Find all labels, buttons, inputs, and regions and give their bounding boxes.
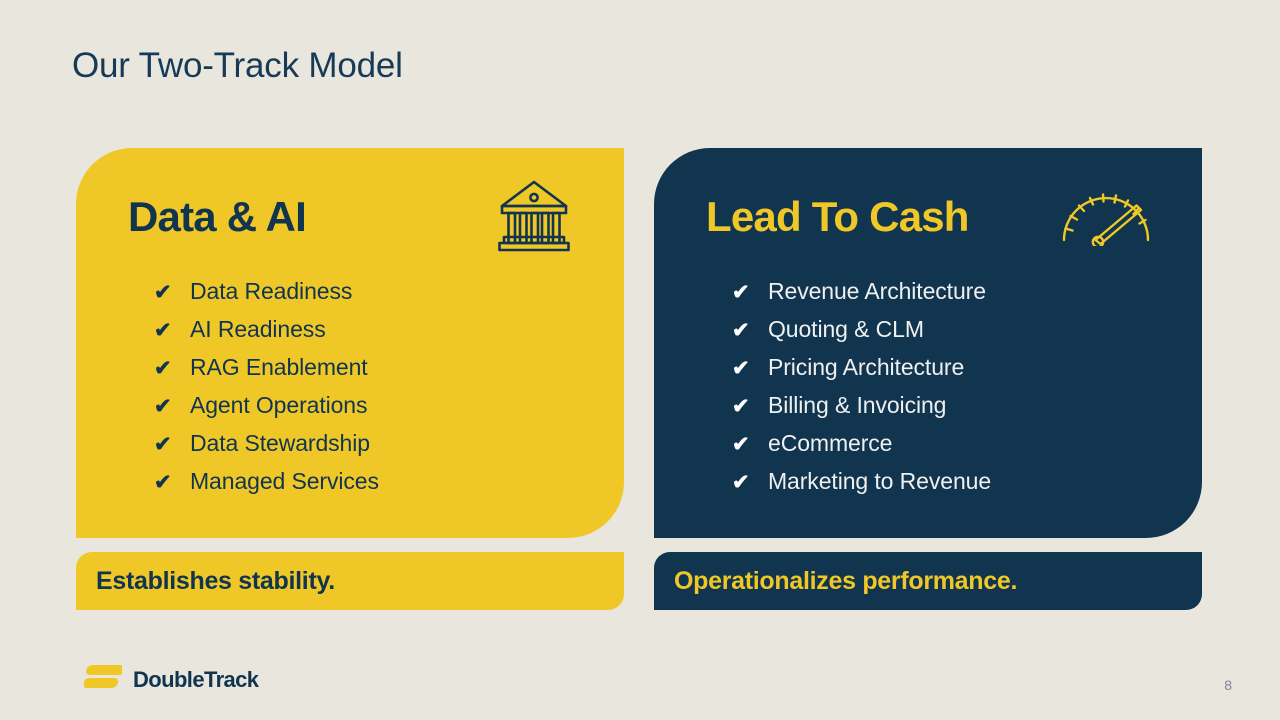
feature-label: RAG Enablement <box>190 354 368 381</box>
list-item: ✔ Pricing Architecture <box>732 354 1168 381</box>
page-number: 8 <box>1224 677 1232 693</box>
card-header-data-and-ai: Data & AI <box>110 174 590 260</box>
feature-label: Billing & Invoicing <box>768 392 946 419</box>
list-item: ✔ Agent Operations <box>154 392 590 419</box>
page-title: Our Two-Track Model <box>72 46 403 86</box>
card-title-lead-to-cash: Lead To Cash <box>706 193 969 241</box>
feature-label: Revenue Architecture <box>768 278 986 305</box>
check-icon: ✔ <box>732 358 768 379</box>
feature-label: Pricing Architecture <box>768 354 964 381</box>
card-title-data-and-ai: Data & AI <box>128 193 306 241</box>
check-icon: ✔ <box>154 396 190 417</box>
doubletrack-logo-mark-icon <box>84 663 122 696</box>
card-lead-to-cash: Lead To Cash <box>654 148 1202 538</box>
track-column-lead-to-cash: Lead To Cash <box>654 148 1202 610</box>
feature-label: Marketing to Revenue <box>768 468 991 495</box>
feature-label: Data Readiness <box>190 278 352 305</box>
card-header-lead-to-cash: Lead To Cash <box>688 174 1168 260</box>
check-icon: ✔ <box>732 396 768 417</box>
feature-label: Agent Operations <box>190 392 367 419</box>
check-icon: ✔ <box>154 434 190 455</box>
feature-list-lead-to-cash: ✔ Revenue Architecture ✔ Quoting & CLM ✔… <box>688 278 1168 495</box>
check-icon: ✔ <box>154 358 190 379</box>
check-icon: ✔ <box>154 320 190 341</box>
logo-text: DoubleTrack <box>133 667 258 693</box>
list-item: ✔ Data Readiness <box>154 278 590 305</box>
check-icon: ✔ <box>732 282 768 303</box>
feature-label: AI Readiness <box>190 316 326 343</box>
feature-label: Data Stewardship <box>190 430 370 457</box>
check-icon: ✔ <box>154 282 190 303</box>
list-item: ✔ Managed Services <box>154 468 590 495</box>
bank-icon <box>496 178 572 257</box>
footer-logo: DoubleTrack <box>84 663 258 696</box>
banner-text: Operationalizes performance. <box>674 567 1017 596</box>
list-item: ✔ eCommerce <box>732 430 1168 457</box>
feature-label: Quoting & CLM <box>768 316 924 343</box>
card-data-and-ai: Data & AI ✔ Data Readin <box>76 148 624 538</box>
speedometer-icon <box>1058 184 1154 251</box>
feature-label: eCommerce <box>768 430 892 457</box>
check-icon: ✔ <box>732 472 768 493</box>
list-item: ✔ Revenue Architecture <box>732 278 1168 305</box>
banner-lead-to-cash: Operationalizes performance. <box>654 552 1202 610</box>
track-column-data-and-ai: Data & AI ✔ Data Readin <box>76 148 624 610</box>
list-item: ✔ Marketing to Revenue <box>732 468 1168 495</box>
list-item: ✔ Data Stewardship <box>154 430 590 457</box>
feature-list-data-and-ai: ✔ Data Readiness ✔ AI Readiness ✔ RAG En… <box>110 278 590 495</box>
banner-data-and-ai: Establishes stability. <box>76 552 624 610</box>
check-icon: ✔ <box>732 320 768 341</box>
check-icon: ✔ <box>732 434 768 455</box>
list-item: ✔ AI Readiness <box>154 316 590 343</box>
list-item: ✔ Quoting & CLM <box>732 316 1168 343</box>
check-icon: ✔ <box>154 472 190 493</box>
list-item: ✔ Billing & Invoicing <box>732 392 1168 419</box>
list-item: ✔ RAG Enablement <box>154 354 590 381</box>
banner-text: Establishes stability. <box>96 567 335 596</box>
feature-label: Managed Services <box>190 468 379 495</box>
